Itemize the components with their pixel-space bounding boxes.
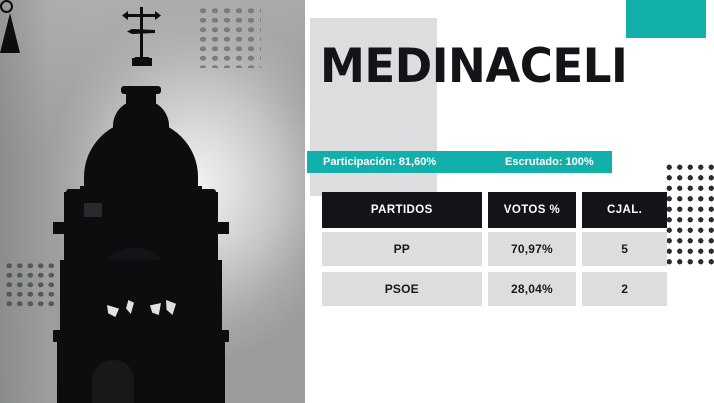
table-row: PSOE 28,04% 2 [322,272,667,306]
pinnacle-right [198,192,218,226]
table-row: PP 70,97% 5 [322,232,667,266]
cell-seats: 5 [582,232,667,266]
column-header-seats: CJAL. [582,192,667,228]
cell-seats: 2 [582,272,667,306]
dot-grid-photo-top [197,6,261,68]
tower-photo [0,0,305,403]
cross-tip-right [155,11,161,20]
spire [0,13,20,53]
participation-stat: Participación: 81,60% [323,156,436,168]
cross-tip-left [122,11,128,20]
dot-grid-photo-left [4,261,56,311]
counted-stat: Escrutado: 100% [505,156,594,168]
cell-votes: 70,97% [488,232,577,266]
spire-base [132,58,152,66]
cell-party: PSOE [322,272,482,306]
page-title: MEDINACELI [320,42,627,92]
results-graphic: MEDINACELI Participación: 81,60% Escruta… [0,0,714,403]
results-table: PARTIDOS VOTOS % CJAL. PP 70,97% 5 PSOE … [322,192,667,312]
teal-corner-accent [626,0,706,38]
column-header-parties: PARTIDOS [322,192,482,228]
column-header-votes: VOTOS % [488,192,577,228]
cross-ring [0,0,13,13]
tower-mid-body [60,260,222,340]
balustrade [84,203,102,217]
cell-votes: 28,04% [488,272,577,306]
cell-party: PP [322,232,482,266]
tower-base [57,335,225,403]
base-arch [92,360,134,403]
dot-grid-right [664,162,714,266]
status-bar: Participación: 81,60% Escrutado: 100% [307,151,612,173]
table-header-row: PARTIDOS VOTOS % CJAL. [322,192,667,228]
pinnacle-left [64,192,84,226]
